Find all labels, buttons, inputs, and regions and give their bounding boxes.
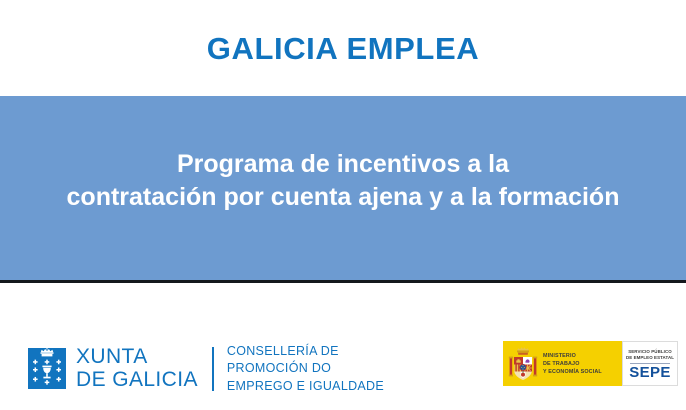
sepe-subtitle-line-1: SERVICIO PÚBLICO (626, 349, 674, 356)
ministerio-line-1: MINISTERIO (543, 352, 602, 360)
xunta-wordmark-line-1: XUNTA (76, 346, 198, 368)
ministerio-line-3: Y ECONOMÍA SOCIAL (543, 368, 602, 376)
program-banner-line-1: Programa de incentivos a la (67, 148, 620, 181)
program-banner-line-2: contratación por cuenta ajena y a la for… (67, 181, 620, 214)
conselleria-line-2: PROMOCIÓN DO (227, 360, 384, 377)
xunta-wordmark: XUNTA DE GALICIA (76, 346, 198, 391)
xunta-de-galicia-logo: XUNTA DE GALICIA CONSELLERÍA DE PROMOCIÓ… (28, 343, 384, 395)
ministerio-text: MINISTERIO DE TRABAJO Y ECONOMÍA SOCIAL (543, 352, 602, 376)
xunta-wordmark-line-2: DE GALICIA (76, 369, 198, 391)
program-banner: Programa de incentivos a la contratación… (0, 96, 686, 283)
footer-logos: XUNTA DE GALICIA CONSELLERÍA DE PROMOCIÓ… (0, 283, 686, 407)
sepe-logo: SERVICIO PÚBLICO DE EMPLEO ESTATAL SEPE (622, 341, 678, 386)
sepe-wordmark: SEPE (629, 365, 671, 380)
conselleria-line-3: EMPREGO E IGUALDADE (227, 378, 384, 395)
ministerio-line-2: DE TRABAJO (543, 360, 602, 368)
conselleria-text: CONSELLERÍA DE PROMOCIÓN DO EMPREGO E IG… (227, 343, 384, 395)
conselleria-line-1: CONSELLERÍA DE (227, 343, 384, 360)
sepe-subtitle-line-2: DE EMPLEO ESTATAL (626, 355, 674, 362)
government-logos: MINISTERIO DE TRABAJO Y ECONOMÍA SOCIAL … (503, 341, 678, 386)
spain-coat-of-arms-icon (508, 346, 538, 382)
xunta-galicia-coat-of-arms-icon (28, 348, 66, 389)
page-header: GALICIA EMPLEA (0, 0, 686, 96)
ministerio-de-trabajo-logo: MINISTERIO DE TRABAJO Y ECONOMÍA SOCIAL (503, 341, 622, 386)
sepe-subtitle: SERVICIO PÚBLICO DE EMPLEO ESTATAL (626, 349, 674, 362)
logo-divider (212, 347, 214, 391)
program-banner-text: Programa de incentivos a la contratación… (67, 148, 620, 228)
page-title: GALICIA EMPLEA (207, 33, 479, 64)
